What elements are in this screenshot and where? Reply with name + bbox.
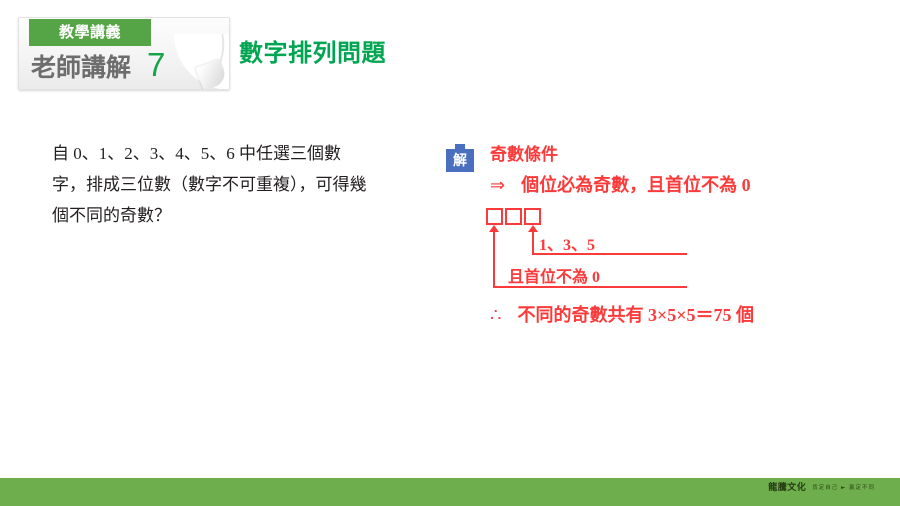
implies-arrow-icon: ⇒ [490, 175, 505, 195]
digit-slot-units [524, 208, 541, 225]
publisher-name: 龍騰文化 [768, 484, 806, 493]
leading-constraint-label: 且首位不為 0 [508, 263, 600, 287]
solution-implies-line: ⇒個位必為奇數，且首位不為 0 [490, 171, 751, 197]
solution-answer-text: 不同的奇數共有 3×5×5＝75 個 [517, 305, 754, 325]
lesson-badge-main-label: 老師講解 [31, 55, 131, 80]
units-constraint-label: 1、3、5 [539, 231, 595, 255]
solution-marker-body: 解 [446, 149, 474, 172]
solution-marker-icon: 解 [446, 144, 474, 172]
publisher-logo: 龍騰文化 肯定自己 ► 贏定不同 [768, 484, 875, 493]
lesson-badge-tab-label: 教學講義 [59, 25, 121, 40]
leading-arrow-stem-icon [493, 230, 495, 288]
question-line-1: 自 0、1、2、3、4、5、6 中任選三個數 [52, 138, 402, 169]
lesson-badge-tab: 教學講義 [29, 19, 151, 46]
digit-slot-hundreds [486, 208, 503, 225]
slide-canvas: 教學講義 老師講解 7 數字排列問題 自 0、1、2、3、4、5、6 中任選三個… [0, 0, 900, 506]
solution-condition-label: 奇數條件 [490, 140, 558, 165]
therefore-symbol-icon: ∴ [490, 305, 501, 325]
footer-bar: 龍騰文化 肯定自己 ► 贏定不同 [0, 478, 900, 506]
solution-implies-text: 個位必為奇數，且首位不為 0 [521, 175, 751, 195]
digit-slot-tens [505, 208, 522, 225]
question-line-2: 字，排成三位數（數字不可重複），可得幾 [52, 169, 402, 200]
page-title: 數字排列問題 [239, 40, 386, 66]
question-line-3: 個不同的奇數？ [52, 200, 402, 231]
lesson-badge-paper: 教學講義 老師講解 7 [18, 17, 230, 90]
solution-answer-line: ∴不同的奇數共有 3×5×5＝75 個 [490, 301, 754, 327]
publisher-slogan: 肯定自己 ► 贏定不同 [812, 484, 875, 493]
digit-slots-row [486, 208, 541, 225]
lesson-badge-row: 老師講解 7 [31, 48, 165, 81]
lesson-badge: 教學講義 老師講解 7 [18, 17, 230, 90]
question-text: 自 0、1、2、3、4、5、6 中任選三個數 字，排成三位數（數字不可重複），可… [52, 138, 402, 231]
solution-marker-glyph: 解 [453, 154, 467, 168]
digit-slots-diagram: 1、3、5 且首位不為 0 [486, 208, 816, 308]
units-arrow-stem-icon [532, 230, 534, 255]
